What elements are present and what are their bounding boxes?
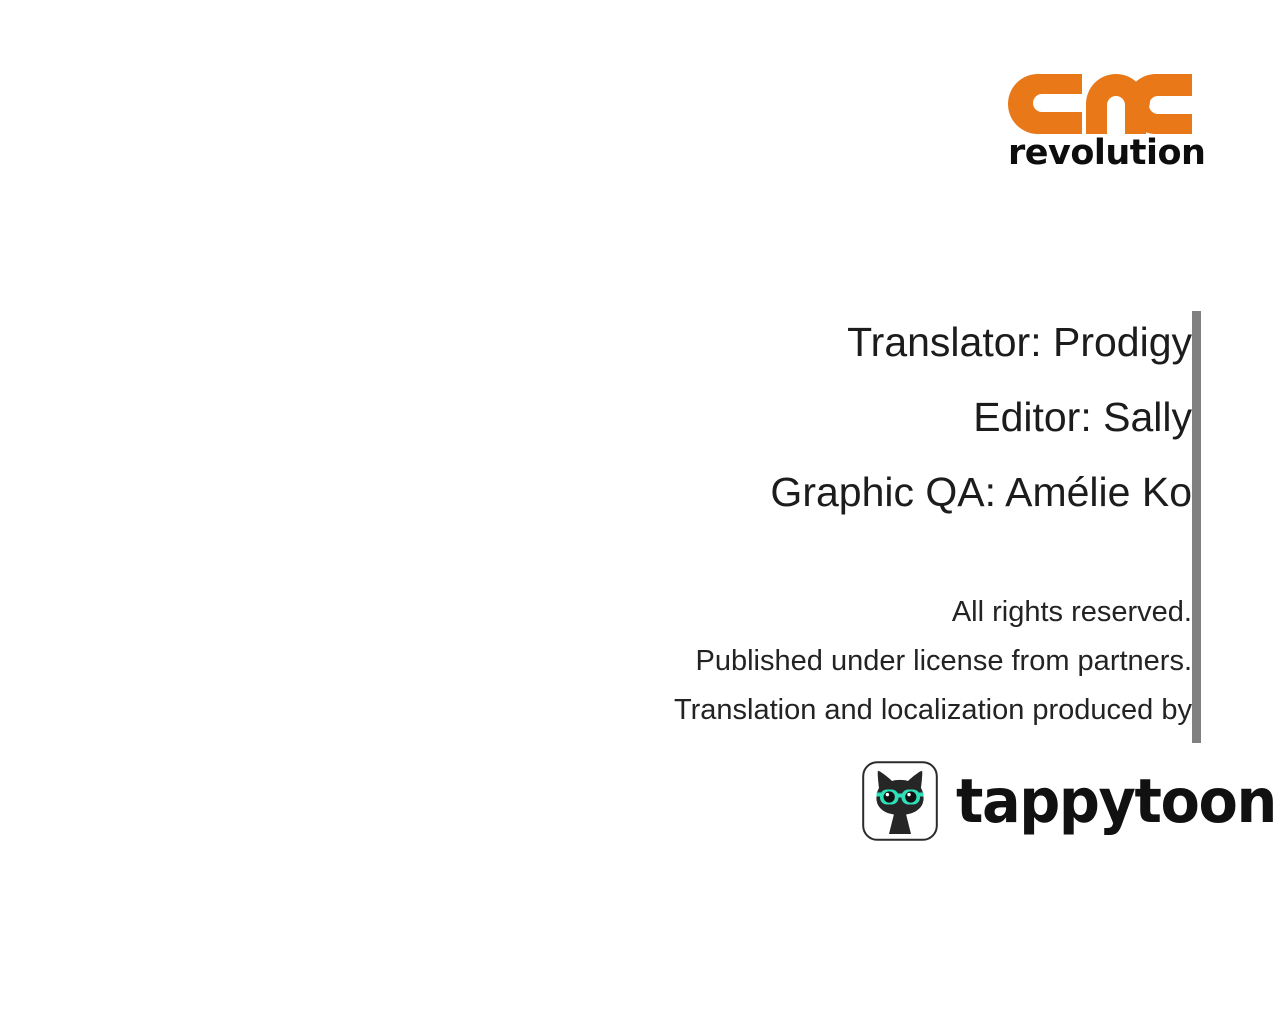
legal-line-license: Published under license from partners. bbox=[552, 637, 1192, 686]
credit-line-graphic-qa: Graphic QA: Amélie Ko bbox=[552, 455, 1192, 530]
legal-notice-block: All rights reserved. Published under lic… bbox=[552, 588, 1192, 735]
legal-line-produced-by: Translation and localization produced by bbox=[552, 686, 1192, 735]
cnc-revolution-logo: revolution bbox=[1008, 72, 1198, 182]
credit-line-editor: Editor: Sally bbox=[552, 380, 1192, 455]
credits-block: Translator: Prodigy Editor: Sally Graphi… bbox=[552, 305, 1192, 530]
cnc-mark-icon bbox=[1008, 72, 1194, 136]
legal-line-rights: All rights reserved. bbox=[552, 588, 1192, 637]
cnc-wordmark: revolution bbox=[1008, 136, 1194, 171]
tappytoon-wordmark: tappytoon bbox=[956, 771, 1276, 832]
vertical-rule bbox=[1192, 311, 1201, 743]
credit-line-translator: Translator: Prodigy bbox=[552, 305, 1192, 380]
tappytoon-logo: tappytoon bbox=[862, 760, 1280, 842]
cat-with-glasses-icon bbox=[862, 761, 938, 841]
